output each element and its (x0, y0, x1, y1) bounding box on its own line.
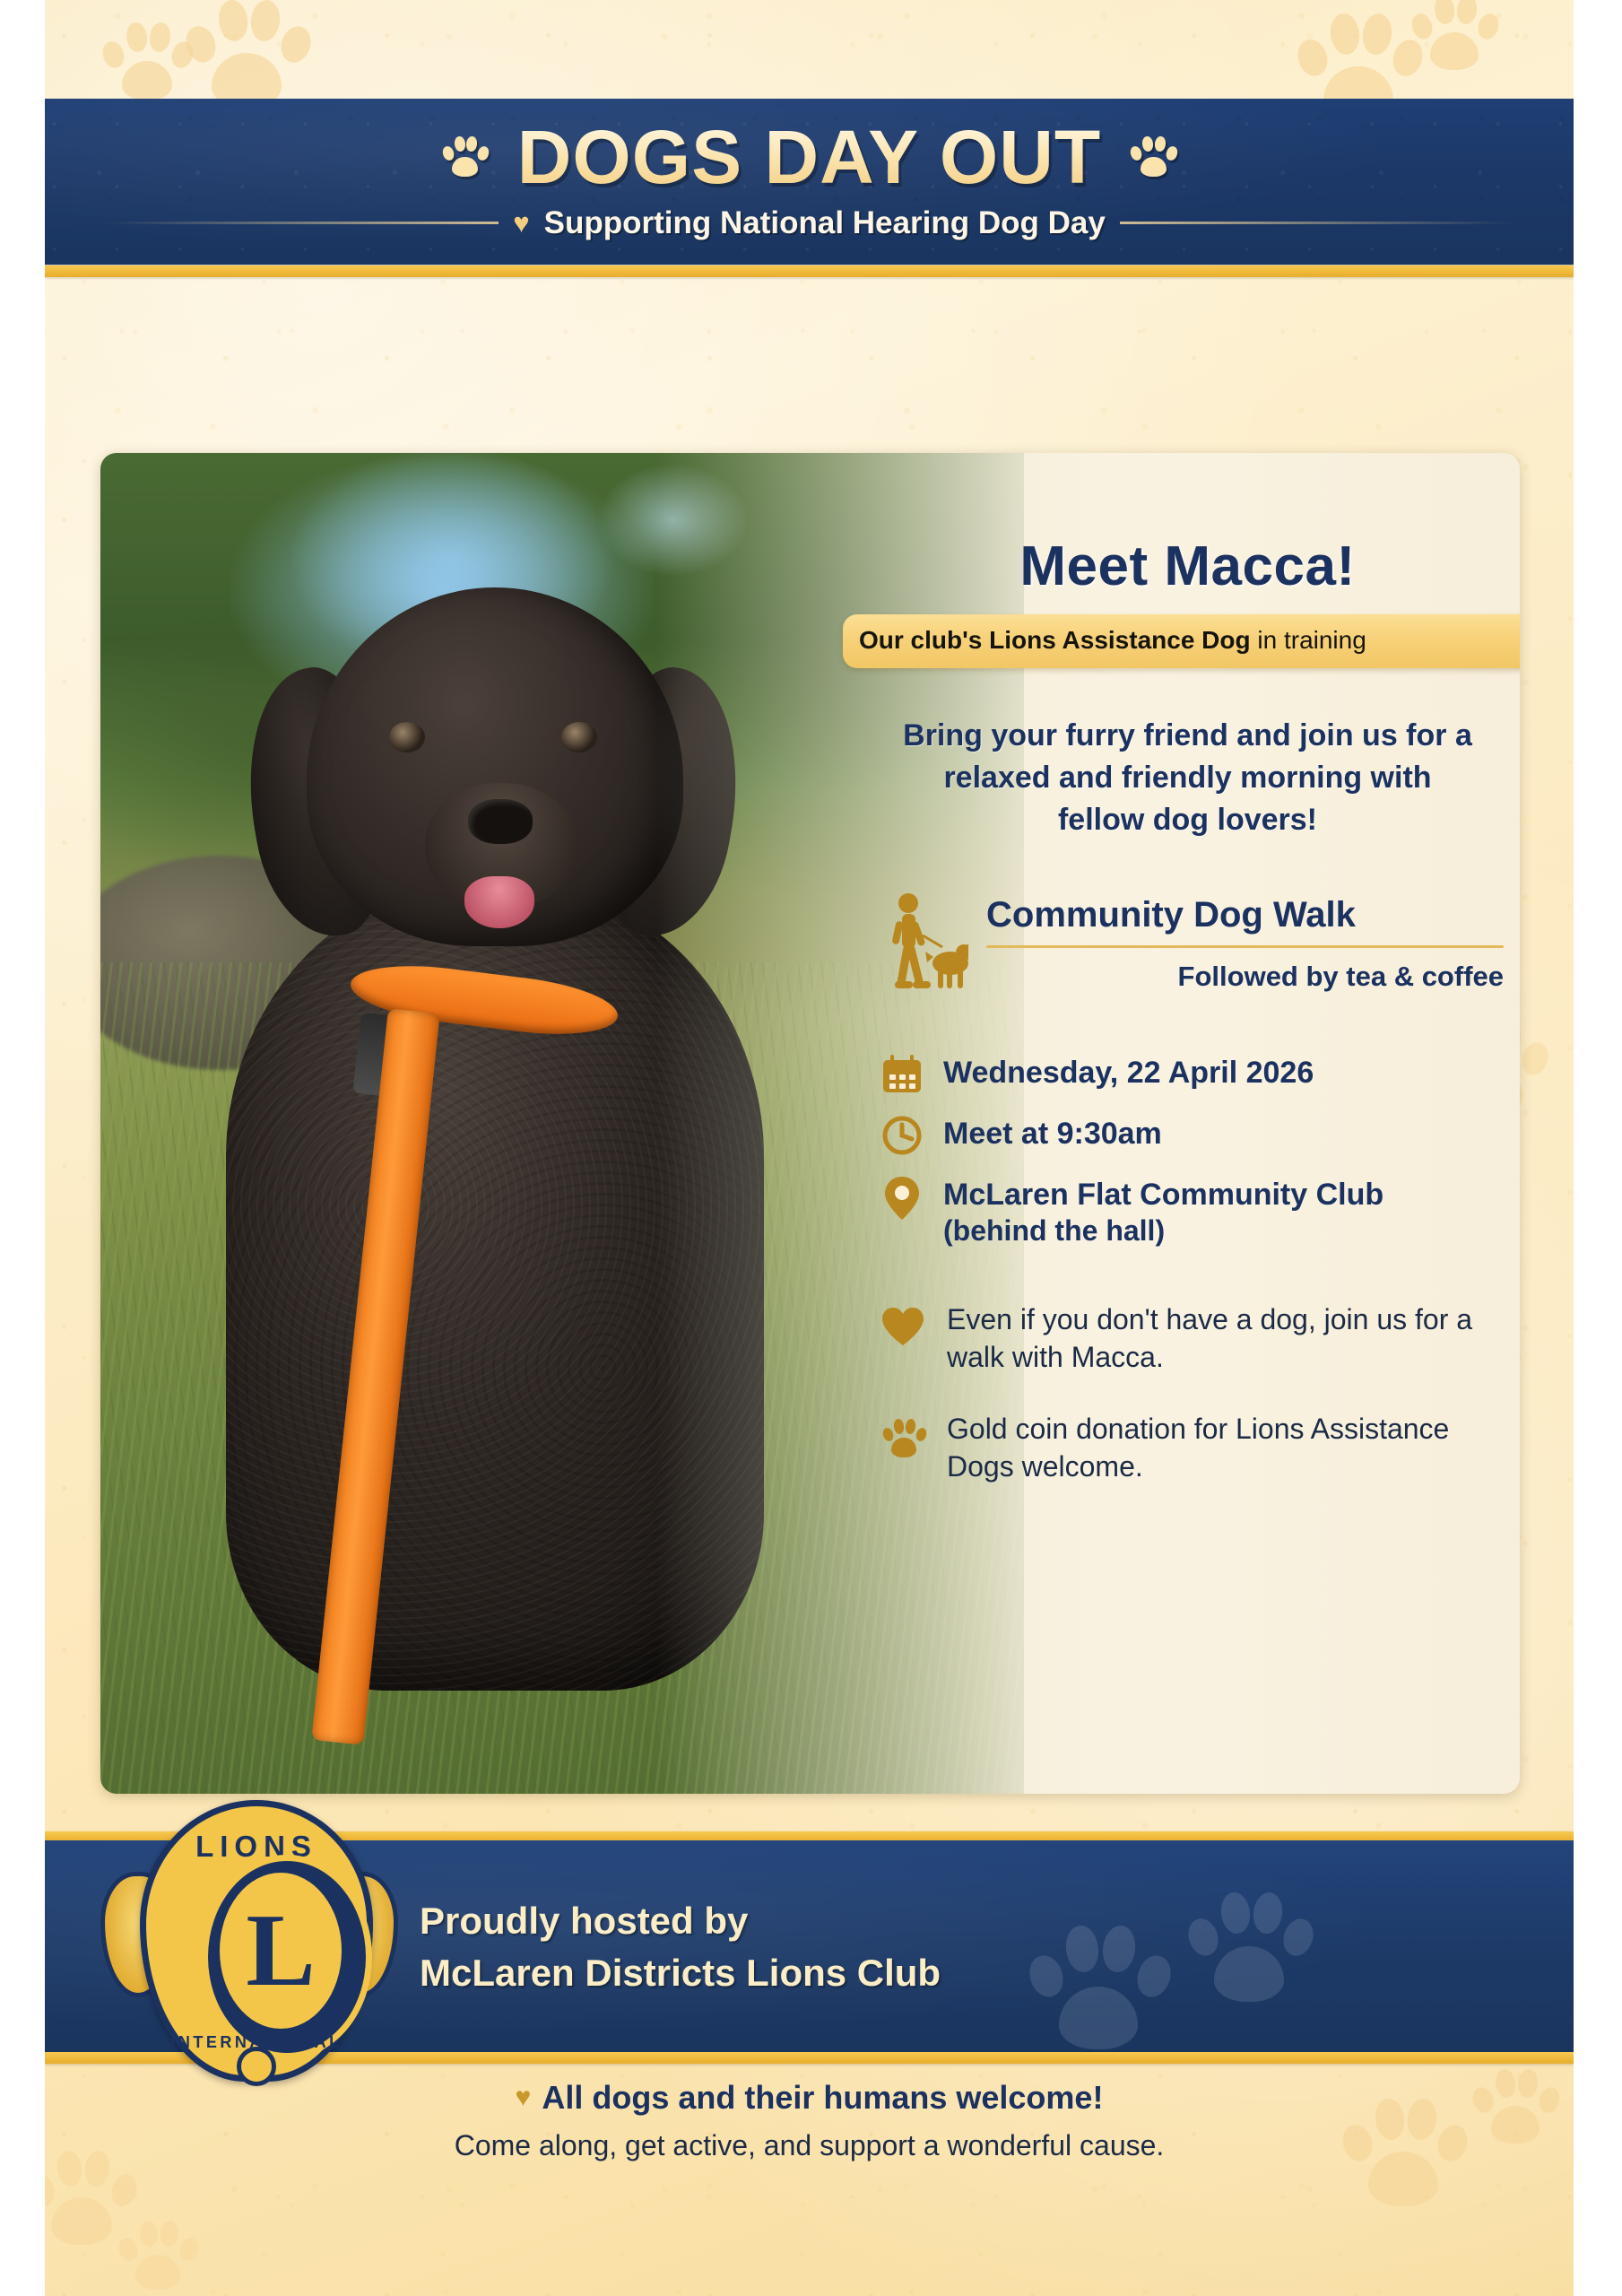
list-item: Meet at 9:30am (880, 1114, 1504, 1161)
poster-header: DOGS DAY OUT ♥ Supporting National Heari… (45, 99, 1574, 265)
lions-center-disc: L (220, 1873, 342, 2029)
walk-divider (986, 945, 1504, 948)
lions-logo-letter: L (246, 1899, 315, 2003)
divider-left (106, 222, 499, 224)
note-text: Gold coin donation for Lions Assistance … (947, 1410, 1504, 1485)
tagline-line-2: Come along, get active, and support a wo… (45, 2129, 1574, 2162)
paw-print-icon (880, 1410, 927, 1462)
tagline-line-1-row: ♥ All dogs and their humans welcome! (516, 2079, 1104, 2117)
paw-print-icon (179, 0, 314, 115)
paw-print-icon (1408, 0, 1501, 75)
list-item: Wednesday, 22 April 2026 (880, 1053, 1504, 1100)
subtitle-row: ♥ Supporting National Hearing Dog Day (106, 205, 1513, 241)
meet-macca-title: Meet Macca! (872, 539, 1504, 595)
person-walking-dog-icon (886, 891, 968, 997)
dog-eye-left (389, 722, 425, 752)
badge-bold-text: Our club's Lions Assistance Dog (859, 626, 1251, 654)
map-pin-icon (880, 1175, 925, 1222)
page-subtitle: Supporting National Hearing Dog Day (544, 205, 1106, 241)
header-gold-rule (45, 265, 1574, 277)
walk-title: Community Dog Walk (986, 895, 1504, 935)
dog-nose (468, 799, 533, 844)
list-item: Gold coin donation for Lions Assistance … (880, 1410, 1504, 1485)
walk-subtitle: Followed by tea & coffee (986, 961, 1504, 993)
list-item: McLaren Flat Community Club (behind the … (880, 1175, 1504, 1248)
host-line-2: McLaren Districts Lions Club (420, 1947, 941, 1999)
calendar-icon (880, 1053, 925, 1100)
event-details-column: Meet Macca! Our club's Lions Assistance … (872, 453, 1520, 1794)
event-location-note: (behind the hall) (943, 1214, 1383, 1248)
tagline-line-1: All dogs and their humans welcome! (542, 2079, 1103, 2117)
dog-tongue (464, 876, 534, 928)
heart-icon: ♥ (516, 2083, 532, 2113)
community-dog-walk-block: Community Dog Walk Followed by tea & cof… (886, 891, 1504, 997)
clock-icon (880, 1114, 925, 1161)
host-line-1: Proudly hosted by (420, 1895, 941, 1947)
heart-icon (880, 1300, 927, 1352)
lions-logo-top-text: LIONS (146, 1830, 367, 1864)
dog-eye-right (561, 722, 597, 752)
event-time: Meet at 9:30am (943, 1114, 1162, 1152)
assistance-dog-badge: Our club's Lions Assistance Dog in train… (843, 614, 1520, 668)
bottom-tagline: ♥ All dogs and their humans welcome! Com… (45, 2079, 1574, 2162)
event-date: Wednesday, 22 April 2026 (943, 1053, 1314, 1091)
title-row: DOGS DAY OUT (440, 119, 1178, 195)
intro-blurb: Bring your furry friend and join us for … (902, 715, 1473, 841)
lions-shield: LIONS L INTERNATIONAL (140, 1800, 373, 2082)
paw-print-icon (99, 16, 195, 106)
note-text: Even if you don't have a dog, join us fo… (947, 1300, 1504, 1376)
paw-print-icon (115, 2215, 201, 2294)
page-title: DOGS DAY OUT (517, 119, 1101, 195)
badge-thin-text: in training (1251, 626, 1366, 654)
event-info-list: Wednesday, 22 April 2026 Meet at 9:30am (880, 1053, 1504, 1248)
paw-print-icon (440, 134, 490, 180)
list-item: Even if you don't have a dog, join us fo… (880, 1300, 1504, 1376)
heart-icon: ♥ (513, 209, 529, 237)
lions-international-logo: LIONS L INTERNATIONAL (115, 1789, 384, 2085)
main-content-card: Meet Macca! Our club's Lions Assistance … (100, 453, 1520, 1794)
host-credit: Proudly hosted by McLaren Districts Lion… (420, 1895, 941, 1999)
notes-list: Even if you don't have a dog, join us fo… (880, 1300, 1504, 1486)
paw-print-icon (1128, 134, 1178, 180)
poster-canvas: DOGS DAY OUT ♥ Supporting National Heari… (45, 0, 1574, 2296)
divider-right (1120, 222, 1513, 224)
event-location: McLaren Flat Community Club (behind the … (943, 1175, 1383, 1248)
event-location-name: McLaren Flat Community Club (943, 1178, 1383, 1212)
